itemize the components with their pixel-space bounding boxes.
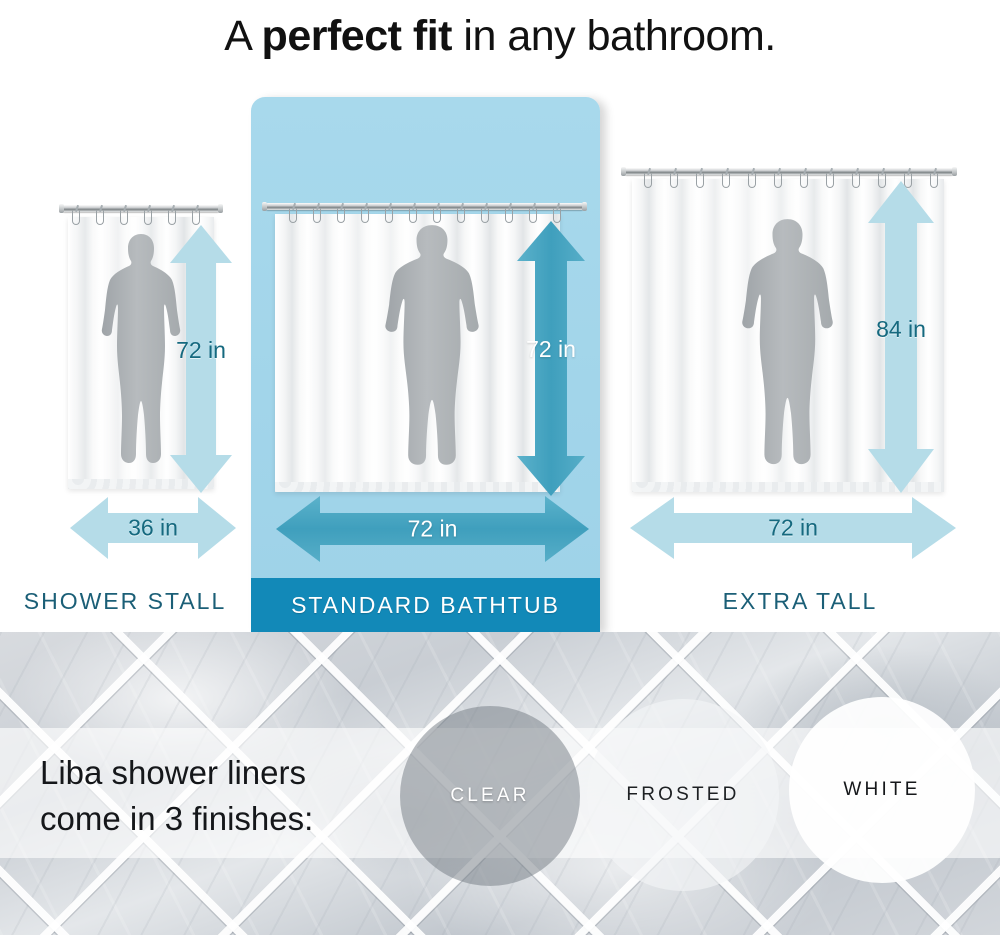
height-arrow-standard-bathtub: 72 in [517, 221, 585, 496]
width-arrow-extra-tall: 72 in [630, 497, 956, 559]
person-silhouette [739, 217, 836, 492]
height-label-shower-stall: 72 in [170, 337, 232, 364]
finish-swatch-frosted[interactable]: FROSTED [587, 699, 779, 891]
width-arrow-shower-stall: 36 in [70, 497, 236, 559]
height-label-standard-bathtub: 72 in [517, 336, 585, 363]
height-arrow-extra-tall: 84 in [868, 181, 934, 493]
infographic-page: A perfect fit in any bathroom. STANDARD … [0, 0, 1000, 935]
finishes-heading: Liba shower liners come in 3 finishes: [40, 750, 460, 842]
height-label-extra-tall: 84 in [868, 316, 934, 343]
width-label-shower-stall: 36 in [70, 515, 236, 542]
panel-extra-tall: 84 in 72 in EXTRA TALL [600, 0, 1000, 632]
width-label-extra-tall: 72 in [630, 515, 956, 542]
panel-standard-bathtub: 72 in 72 in [251, 0, 600, 632]
panel-shower-stall: 72 in 36 in SHOWER STALL [0, 0, 250, 632]
person-silhouette [382, 223, 482, 492]
caption-shower-stall: SHOWER STALL [0, 588, 250, 615]
width-label-standard-bathtub: 72 in [276, 516, 589, 543]
size-comparison-section: A perfect fit in any bathroom. STANDARD … [0, 0, 1000, 632]
caption-extra-tall: EXTRA TALL [600, 588, 1000, 615]
height-arrow-shower-stall: 72 in [170, 225, 232, 493]
finishes-heading-line-1: Liba shower liners [40, 750, 460, 796]
finishes-heading-line-2: come in 3 finishes: [40, 796, 460, 842]
width-arrow-standard-bathtub: 72 in [276, 496, 589, 562]
finish-swatch-white[interactable]: WHITE [789, 697, 975, 883]
